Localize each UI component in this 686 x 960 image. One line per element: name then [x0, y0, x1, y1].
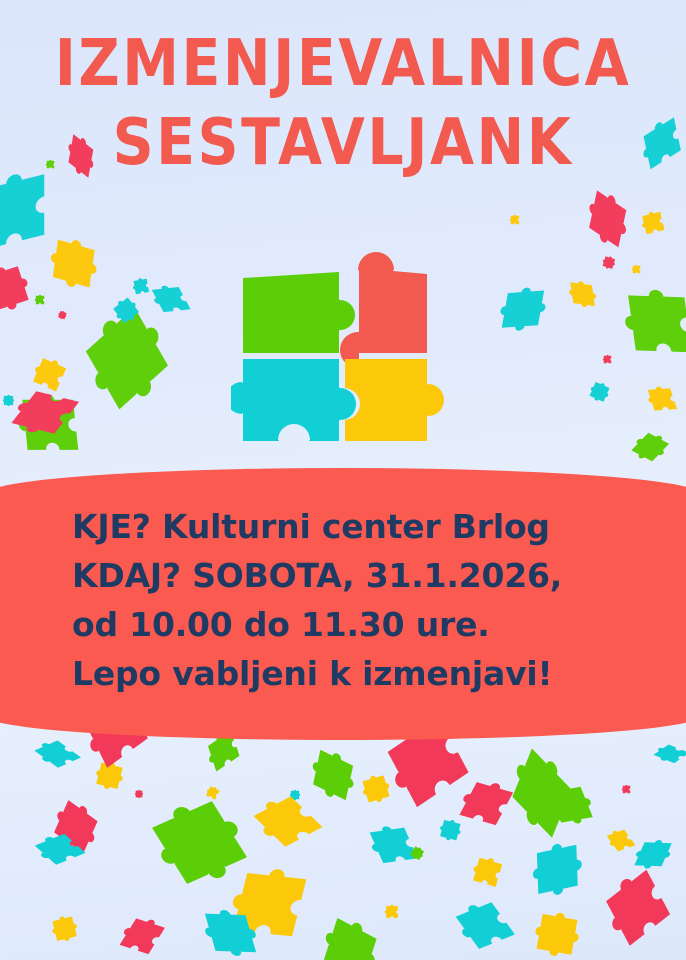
puzzle-piece-bottom-right — [344, 359, 444, 441]
poster-canvas: IZMENJEVALNICA SESTAVLJANK KJE? Kulturni… — [0, 0, 686, 960]
banner-line-time: od 10.00 do 11.30 ure. — [72, 600, 656, 649]
puzzle-piece-top-left — [243, 272, 355, 353]
banner-line-invitation: Lepo vabljeni k izmenjavi! — [72, 649, 656, 698]
info-banner-text: KJE? Kulturni center Brlog KDAJ? SOBOTA,… — [0, 474, 686, 734]
puzzle-piece-bottom-left — [231, 359, 356, 441]
banner-line-location: KJE? Kulturni center Brlog — [72, 502, 656, 551]
banner-line-date: KDAJ? SOBOTA, 31.1.2026, — [72, 551, 656, 600]
hero-puzzle-graphic — [231, 241, 456, 451]
